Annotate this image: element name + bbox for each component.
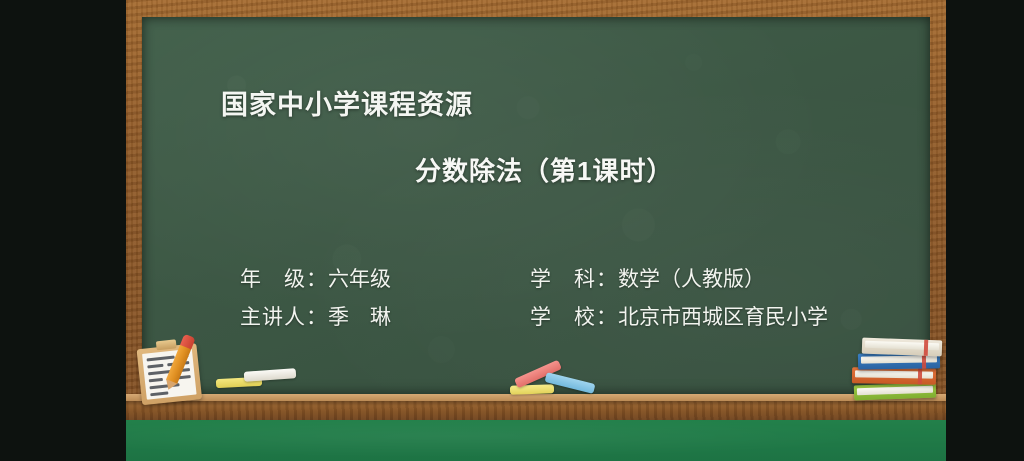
lesson-info-block: 年 级：六年级 学 科：数学（人教版） 主讲人：季 琳 学 校：北京市西城区育民… [240,263,880,339]
book-white [862,338,943,357]
book-green [854,383,936,401]
chalk-ledge-top [126,394,946,401]
screenshot-stage: 国家中小学课程资源 分数除法（第1课时） 年 级：六年级 学 科：数学（人教版）… [0,0,1024,461]
book-stack-icon [852,337,946,399]
chalk-ledge-shadow [126,401,946,406]
platform-title: 国家中小学课程资源 [221,83,473,122]
info-row: 年 级：六年级 学 科：数学（人教版） [240,263,880,301]
info-grade-label: 年 级： [240,267,328,291]
bottom-green-band [126,420,946,461]
info-school: 学 校：北京市西城区育民小学 [530,301,828,331]
info-teacher-value: 季 琳 [328,305,391,329]
info-subject-value: 数学（人教版） [618,267,765,291]
info-teacher: 主讲人：季 琳 [240,301,530,331]
info-teacher-label: 主讲人： [240,305,328,329]
letterbox-right [946,0,1024,461]
blackboard-scene: 国家中小学课程资源 分数除法（第1课时） 年 级：六年级 学 科：数学（人教版）… [126,0,946,461]
info-grade-value: 六年级 [328,267,391,291]
info-school-value: 北京市西城区育民小学 [618,305,828,329]
info-subject: 学 科：数学（人教版） [530,263,765,293]
chalkboard-surface: 国家中小学课程资源 分数除法（第1课时） 年 级：六年级 学 科：数学（人教版）… [142,17,930,395]
info-row: 主讲人：季 琳 学 校：北京市西城区育民小学 [240,301,880,339]
book-orange [852,367,936,384]
info-subject-label: 学 科： [530,267,618,291]
info-grade: 年 级：六年级 [240,263,530,293]
info-school-label: 学 校： [530,305,618,329]
letterbox-left [0,0,126,461]
lesson-title: 分数除法（第1课时） [415,151,673,188]
